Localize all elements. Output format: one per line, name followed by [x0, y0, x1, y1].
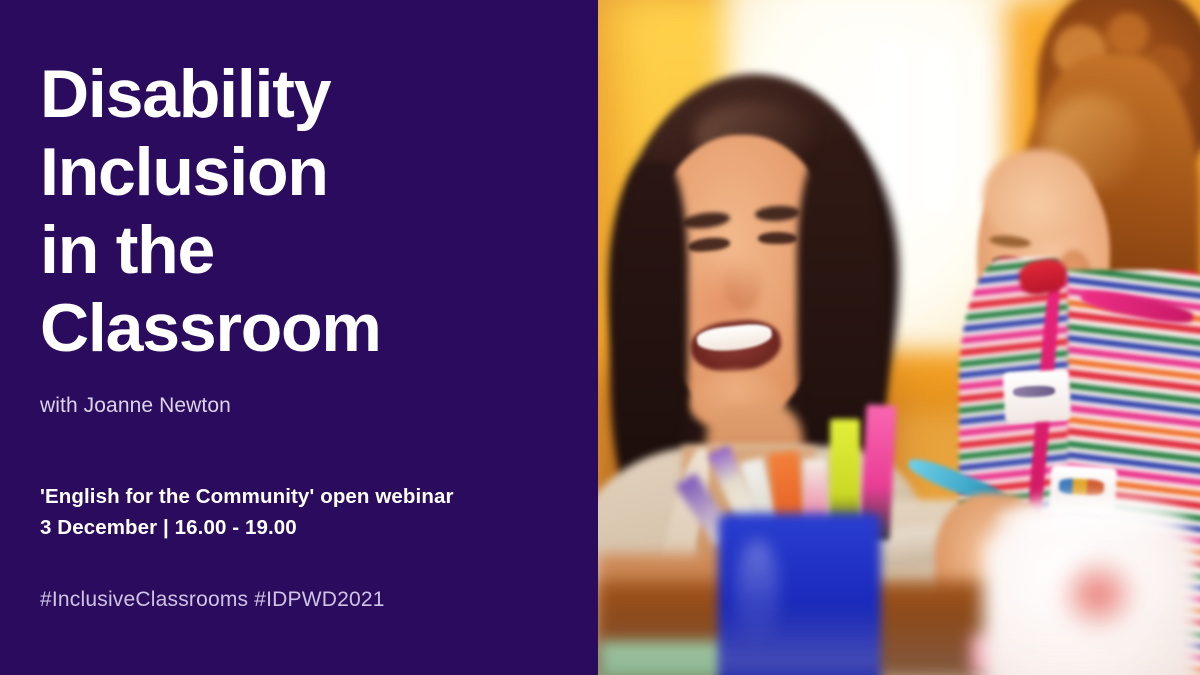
photo-desk	[598, 581, 1019, 675]
student-zip-collar	[1017, 256, 1070, 298]
student-nose	[977, 277, 1007, 324]
student-hair	[1019, 54, 1200, 365]
student-hair-bun	[1037, 0, 1200, 182]
photo-pen	[768, 451, 807, 541]
teacher-hair-back	[610, 88, 899, 507]
teacher-cardigan-edge	[640, 445, 718, 649]
event-details: 'English for the Community' open webinar…	[40, 481, 558, 543]
teacher-sleeve-fold	[837, 518, 997, 575]
photo-highlighter-pink	[859, 404, 896, 540]
teacher-neck	[706, 405, 802, 527]
teacher-hair-right-side	[797, 149, 887, 514]
student-name-sticker	[1048, 464, 1117, 515]
presenter-name: with Joanne Newton	[40, 393, 558, 419]
teacher-cardigan-neckline	[682, 446, 814, 608]
teacher-cardigan	[598, 446, 923, 675]
photo-pen	[676, 472, 737, 547]
student-pen	[905, 453, 1013, 512]
student-name-sticker-text	[1013, 385, 1055, 397]
teacher-chin	[688, 371, 784, 432]
student-face	[977, 155, 1109, 371]
teacher-arm	[742, 500, 1055, 675]
teacher-teeth	[696, 322, 773, 354]
photo-pen-pot	[718, 513, 881, 675]
photo-cup	[983, 500, 1200, 675]
student-striped-top	[971, 270, 1200, 675]
text-panel: Disability Inclusion in the Classroom wi…	[0, 0, 598, 675]
teacher-hair-left-side	[610, 162, 688, 513]
teacher-hair-highlight	[694, 101, 814, 169]
teacher-forearm	[598, 554, 839, 675]
student-pink-trim	[1079, 286, 1195, 328]
student-hair-curls	[1050, 7, 1200, 156]
student-hand	[935, 493, 1055, 642]
photo-pen	[708, 444, 766, 534]
student-neck	[1019, 338, 1115, 446]
student-name-sticker	[1003, 370, 1072, 424]
event-name: 'English for the Community' open webinar	[40, 481, 558, 512]
student-forehead	[983, 149, 1091, 244]
photo-bottom-glow	[598, 608, 1200, 675]
teacher-eyebrow-right	[754, 205, 800, 222]
teacher-mouth	[689, 316, 784, 376]
photo-wall-left	[598, 0, 839, 419]
student-zip	[1021, 283, 1062, 594]
photo-cup-rim	[995, 500, 1188, 541]
event-datetime: 3 December | 16.00 - 19.00	[40, 512, 558, 543]
teacher-sleeve-fold	[861, 577, 1009, 631]
student-name-sticker-text	[1058, 478, 1104, 497]
teacher-nose	[724, 257, 760, 311]
teacher-eye-left	[688, 235, 731, 252]
student-hair-highlight	[1043, 95, 1139, 190]
photo-pen	[803, 459, 827, 540]
photo-pen-pot-highlight	[736, 540, 778, 648]
teacher-eyebrow-left	[682, 210, 732, 231]
teacher-cheek	[676, 257, 766, 352]
photo-wall-right	[1007, 0, 1200, 446]
photo-window	[724, 0, 1061, 378]
student-eye	[992, 255, 1026, 269]
student-eyebrow	[989, 234, 1032, 249]
student-striped-top-left	[959, 257, 1067, 649]
classroom-photo	[598, 0, 1200, 675]
photo-wall-yellow-panel	[622, 0, 754, 392]
photo-window-sill	[682, 351, 1115, 412]
photo-pen	[739, 457, 782, 541]
student-ear	[1056, 250, 1092, 311]
page-title: Disability Inclusion in the Classroom	[40, 55, 558, 367]
hashtags: #InclusiveClassrooms #IDPWD2021	[40, 588, 385, 612]
photo-highlighter-yellow	[830, 419, 860, 541]
photo-pink-paper	[971, 635, 1152, 675]
teacher-eye-right	[758, 232, 797, 244]
teacher-face	[652, 135, 833, 419]
photo-green-paper	[598, 641, 851, 675]
teacher-hair-top	[634, 74, 875, 304]
photo-wall-lower	[598, 371, 887, 675]
photo-cup-motif	[1056, 554, 1140, 635]
student-lips	[982, 325, 1027, 352]
student-white-collar	[1068, 284, 1200, 460]
webinar-promo-banner: Disability Inclusion in the Classroom wi…	[0, 0, 1200, 675]
photo-shelf-items	[875, 41, 1056, 217]
